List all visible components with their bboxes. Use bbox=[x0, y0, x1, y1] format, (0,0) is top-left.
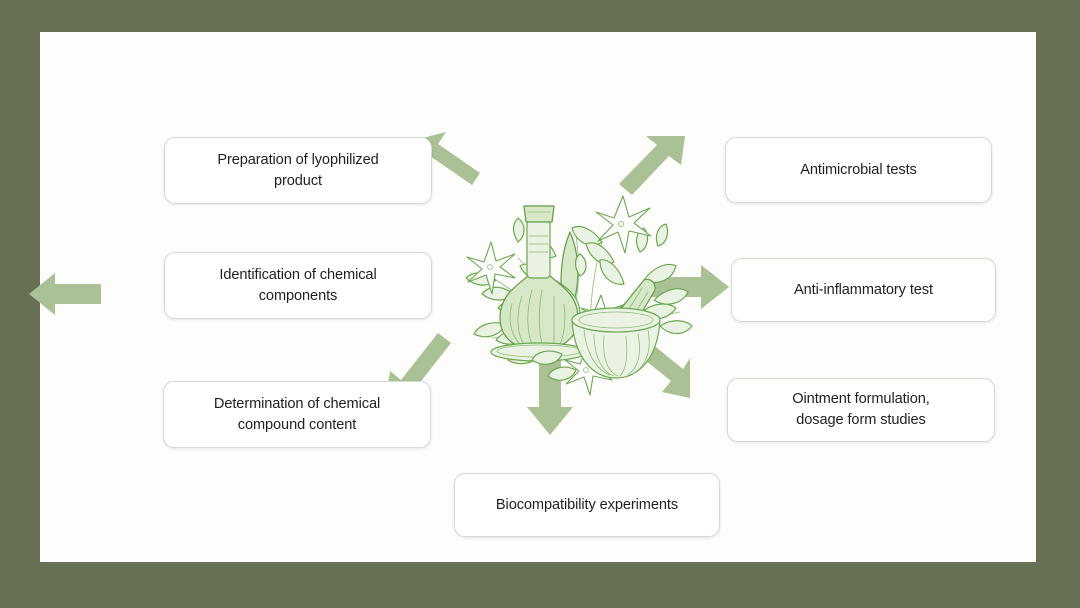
diagram-root: Preparation of lyophilized product Ident… bbox=[0, 0, 1080, 608]
diagram-card: Preparation of lyophilized product Ident… bbox=[40, 32, 1036, 562]
node-box-biocompatibility-experiments[interactable]: Biocompatibility experiments bbox=[454, 473, 720, 537]
arrow-left-icon bbox=[25, 267, 105, 321]
herbal-flask-mortar-pestle-illustration bbox=[444, 184, 730, 412]
node-box-antimicrobial-tests[interactable]: Antimicrobial tests bbox=[725, 137, 992, 203]
node-label: Determination of chemical compound conte… bbox=[214, 394, 380, 435]
node-box-ointment-formulation-dosage-form-studies[interactable]: Ointment formulation, dosage form studie… bbox=[727, 378, 995, 442]
node-label: Anti-inflammatory test bbox=[794, 280, 933, 301]
node-box-preparation-of-lyophilized-product[interactable]: Preparation of lyophilized product bbox=[164, 137, 432, 204]
node-label: Preparation of lyophilized product bbox=[217, 150, 378, 191]
node-box-determination-of-chemical-compound-content[interactable]: Determination of chemical compound conte… bbox=[163, 381, 431, 448]
node-label: Ointment formulation, dosage form studie… bbox=[792, 389, 929, 430]
node-box-identification-of-chemical-components[interactable]: Identification of chemical components bbox=[164, 252, 432, 319]
flower-left bbox=[467, 242, 515, 294]
node-label: Biocompatibility experiments bbox=[496, 495, 678, 516]
node-label: Identification of chemical components bbox=[219, 265, 376, 306]
node-box-anti-inflammatory-test[interactable]: Anti-inflammatory test bbox=[731, 258, 996, 322]
node-label: Antimicrobial tests bbox=[800, 160, 917, 181]
